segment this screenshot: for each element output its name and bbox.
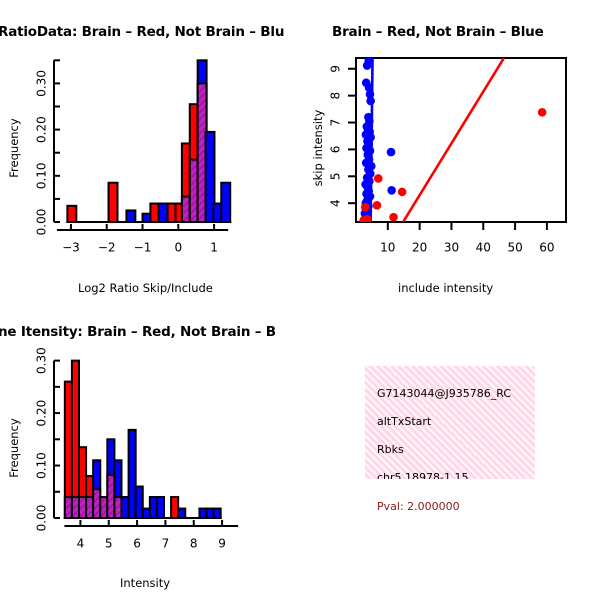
hist-intensity-plot: 0.000.100.200.30456789 bbox=[0, 348, 300, 593]
x-tick-label: 50 bbox=[507, 241, 522, 255]
x-tick-label: 40 bbox=[476, 241, 491, 255]
x-tick-label: 4 bbox=[77, 537, 85, 551]
panel-hist-ratio: RatioData: Brain – Red, Not Brain – Blu … bbox=[0, 16, 300, 316]
info-line-coords: chr5.18978-1.15 bbox=[377, 471, 469, 479]
y-tick-label: 0.10 bbox=[35, 162, 49, 189]
hist-bar-blue bbox=[221, 183, 230, 222]
hist-bar-blue bbox=[122, 497, 129, 518]
hist-bar-blue bbox=[143, 509, 150, 518]
scatter-point bbox=[374, 174, 383, 183]
hist-bar-overlap bbox=[93, 489, 100, 518]
fit-line-red-fit bbox=[403, 58, 504, 222]
y-tick-label: 0.20 bbox=[35, 400, 49, 427]
y-tick-label: 0.10 bbox=[35, 452, 49, 479]
hist-bar-overlap bbox=[114, 497, 121, 518]
hist-bar-blue bbox=[136, 487, 143, 518]
scatter-plot: 456789102030405060 bbox=[300, 50, 600, 300]
x-tick-label: 7 bbox=[162, 537, 170, 551]
panel-info: G7143044@J935786_RC altTxStart Rbks chr5… bbox=[300, 316, 600, 600]
scatter-point bbox=[359, 216, 368, 225]
y-tick-label: 4 bbox=[329, 199, 343, 207]
scatter-point bbox=[361, 203, 370, 212]
y-tick-label: 0.00 bbox=[35, 505, 49, 532]
scatter-point bbox=[366, 97, 375, 106]
scatter-title: Brain – Red, Not Brain – Blue bbox=[332, 24, 544, 40]
x-tick-label: 0 bbox=[174, 241, 182, 255]
hist-ratio-plot: 0.000.100.200.30−3−2−101 bbox=[0, 50, 300, 300]
info-line-gene: Rbks bbox=[377, 443, 404, 456]
x-tick-label: 20 bbox=[412, 241, 427, 255]
hist-bar-red bbox=[109, 183, 118, 222]
hist-bar-blue bbox=[159, 204, 168, 222]
hist-bar-blue bbox=[150, 497, 157, 518]
scatter-point bbox=[373, 201, 382, 210]
info-line-id: G7143044@J935786_RC bbox=[377, 387, 511, 400]
x-tick-label: −2 bbox=[98, 241, 116, 255]
scatter-inner bbox=[359, 56, 546, 224]
scatter-point bbox=[389, 213, 398, 222]
hist-bar-red bbox=[67, 206, 76, 222]
x-tick-label: 30 bbox=[444, 241, 459, 255]
hist-bar-red bbox=[72, 361, 79, 518]
hist-bar-red bbox=[171, 497, 178, 518]
y-tick-label: 0.30 bbox=[35, 347, 49, 374]
x-tick-label: 8 bbox=[190, 537, 198, 551]
hist-bar-blue bbox=[207, 509, 214, 518]
info-box-text-clip: G7143044@J935786_RC altTxStart Rbks chr5… bbox=[365, 366, 535, 479]
hist-bar-overlap bbox=[72, 497, 79, 518]
y-tick-label: 8 bbox=[329, 92, 343, 100]
x-tick-label: 5 bbox=[105, 537, 113, 551]
x-tick-label: −1 bbox=[134, 241, 152, 255]
hist-bar-overlap bbox=[107, 475, 114, 518]
hist-bar-blue bbox=[126, 210, 135, 222]
panel-scatter: Brain – Red, Not Brain – Blue skip inten… bbox=[300, 16, 600, 316]
hist-ratio-title: RatioData: Brain – Red, Not Brain – Blu bbox=[0, 24, 284, 40]
y-tick-label: 6 bbox=[329, 146, 343, 154]
plot-frame bbox=[356, 58, 566, 222]
hist-bar-blue bbox=[129, 430, 136, 518]
hist-bar-blue bbox=[214, 509, 221, 518]
x-tick-label: −3 bbox=[62, 241, 80, 255]
scatter-point bbox=[538, 108, 547, 117]
hist-bar-overlap bbox=[79, 497, 86, 518]
y-tick-label: 0.30 bbox=[35, 70, 49, 97]
x-tick-label: 6 bbox=[133, 537, 141, 551]
y-tick-label: 5 bbox=[329, 172, 343, 180]
hist-intensity-title: ne Itensity: Brain – Red, Not Brain – B bbox=[0, 324, 276, 340]
hist-bar-overlap bbox=[100, 497, 107, 518]
hist-bar-overlap bbox=[86, 497, 93, 518]
scatter-point bbox=[398, 188, 407, 197]
info-line-event-type: altTxStart bbox=[377, 415, 431, 428]
y-tick-label: 7 bbox=[329, 119, 343, 127]
info-line-pval: Pval: 2.000000 bbox=[377, 500, 460, 513]
hist-bar-overlap bbox=[65, 497, 72, 518]
y-tick-label: 0.00 bbox=[35, 209, 49, 236]
x-tick-label: 1 bbox=[210, 241, 218, 255]
hist-bar-blue bbox=[199, 509, 206, 518]
y-tick-label: 0.20 bbox=[35, 116, 49, 143]
panel-hist-intensity: ne Itensity: Brain – Red, Not Brain – B … bbox=[0, 316, 300, 600]
x-tick-label: 10 bbox=[380, 241, 395, 255]
scatter-point bbox=[387, 148, 396, 157]
hist-bar-blue bbox=[178, 509, 185, 518]
scatter-point bbox=[387, 186, 396, 195]
x-tick-label: 9 bbox=[218, 537, 226, 551]
y-tick-label: 9 bbox=[329, 65, 343, 73]
x-tick-label: 60 bbox=[539, 241, 554, 255]
hist-bar-blue bbox=[157, 497, 164, 518]
